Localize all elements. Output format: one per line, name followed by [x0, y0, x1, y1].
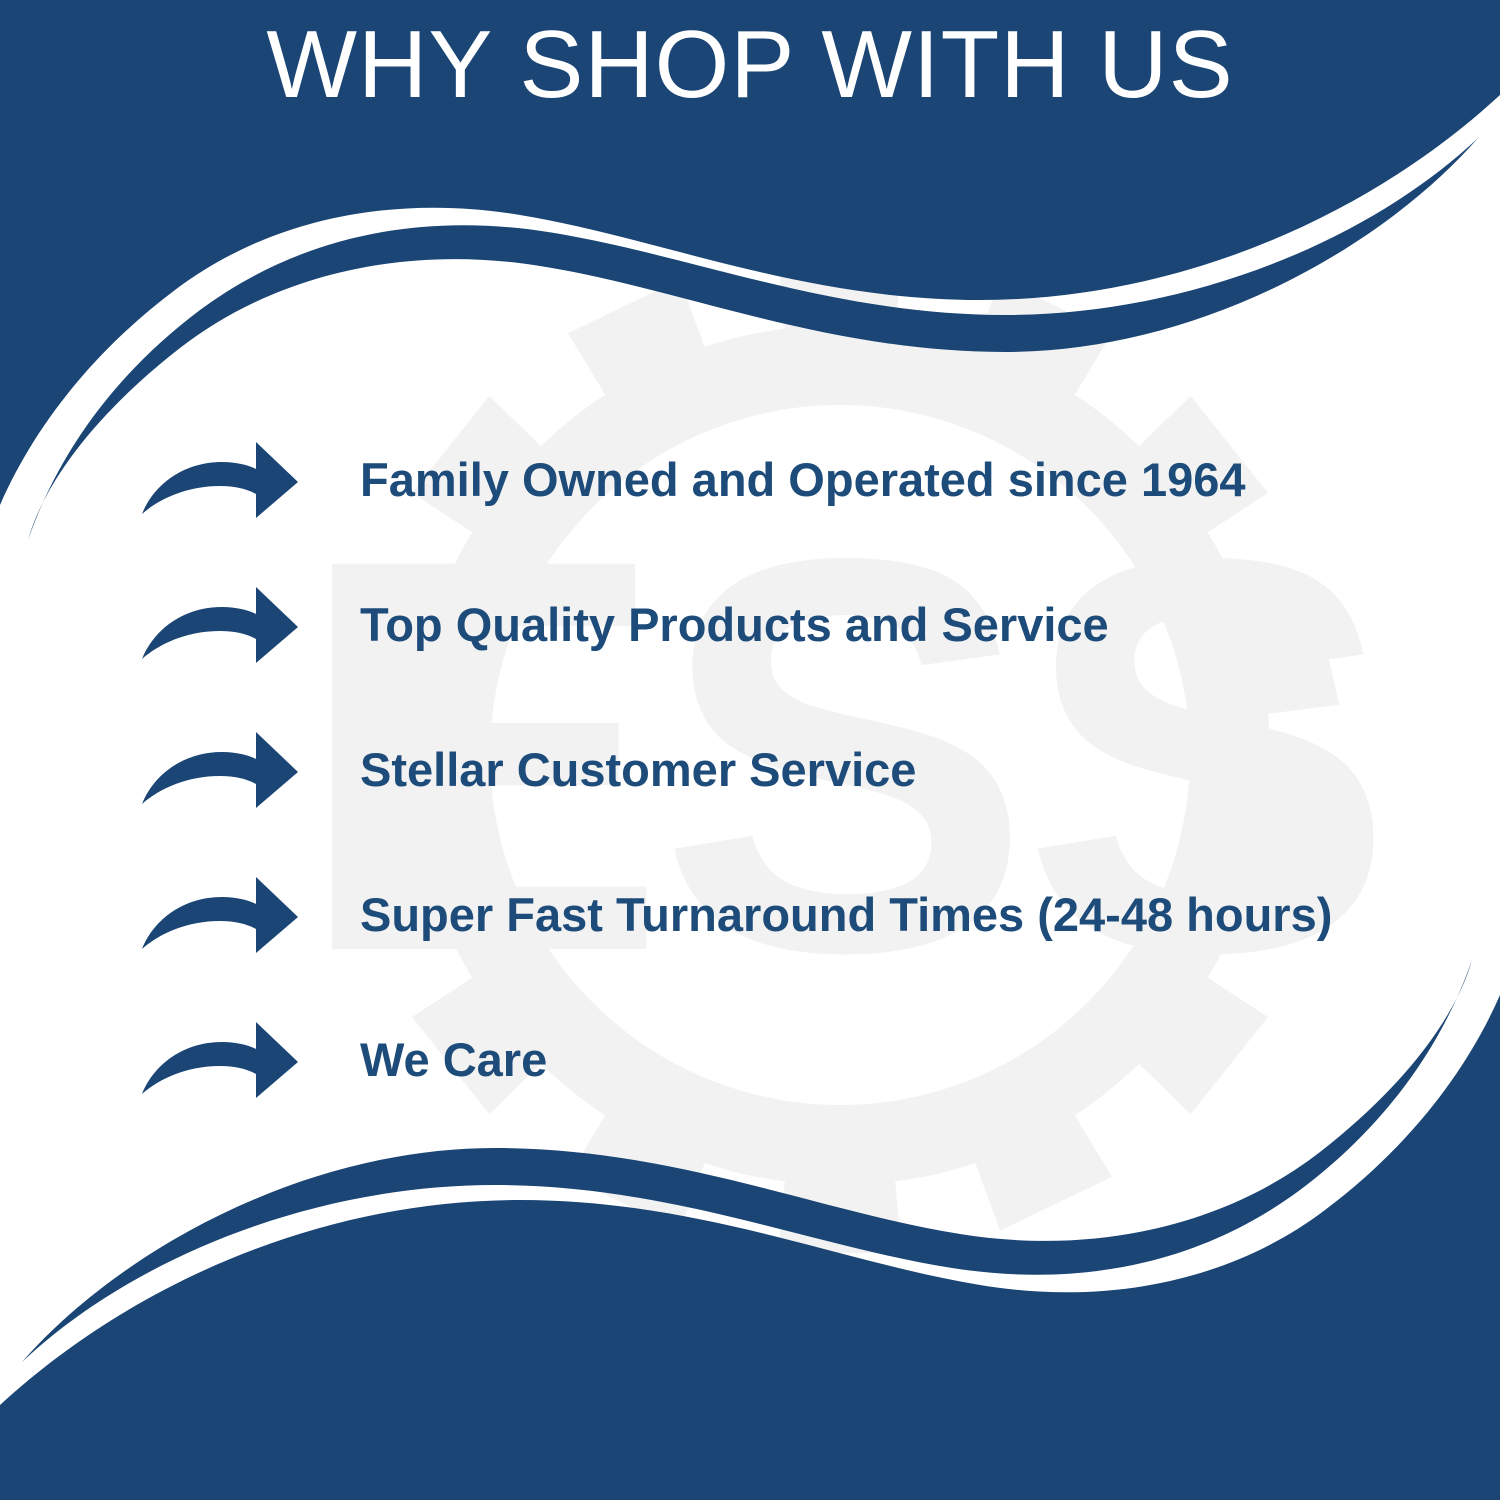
curved-arrow-right-icon	[140, 585, 300, 665]
list-item: Family Owned and Operated since 1964	[140, 430, 1440, 530]
list-item: Super Fast Turnaround Times (24-48 hours…	[140, 865, 1440, 965]
list-item-label: Top Quality Products and Service	[360, 599, 1109, 651]
curved-arrow-right-icon	[140, 1020, 300, 1100]
list-item-label: Super Fast Turnaround Times (24-48 hours…	[360, 889, 1332, 941]
curved-arrow-right-icon	[140, 730, 300, 810]
header-bar: WHY SHOP WITH US	[0, 0, 1500, 130]
list-item: Stellar Customer Service	[140, 720, 1440, 820]
list-item-label: Stellar Customer Service	[360, 744, 916, 796]
curved-arrow-right-icon	[140, 875, 300, 955]
benefits-list: Family Owned and Operated since 1964 Top…	[140, 430, 1440, 1110]
why-shop-with-us-poster: ESS WHY SHOP WITH US Family Owned and Op…	[0, 0, 1500, 1500]
curved-arrow-right-icon	[140, 440, 300, 520]
list-item: We Care	[140, 1010, 1440, 1110]
list-item: Top Quality Products and Service	[140, 575, 1440, 675]
list-item-label: We Care	[360, 1034, 547, 1086]
list-item-label: Family Owned and Operated since 1964	[360, 454, 1246, 506]
page-title: WHY SHOP WITH US	[266, 17, 1233, 113]
